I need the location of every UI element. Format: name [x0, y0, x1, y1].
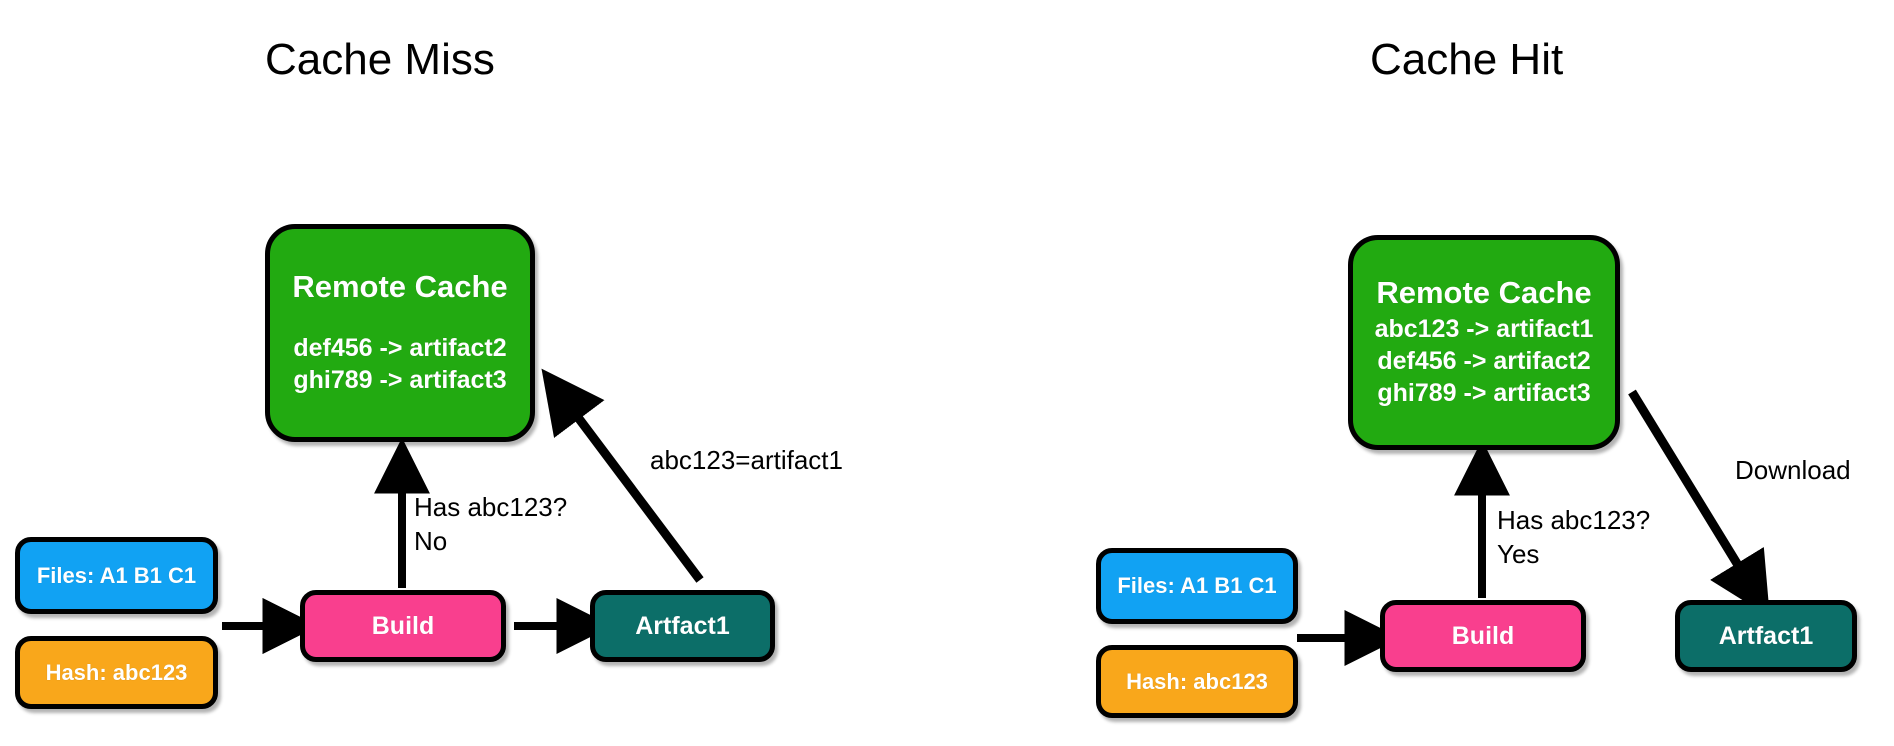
- right-files-node-label: Files: A1 B1 C1: [1117, 573, 1276, 599]
- left-remote-cache-entry-1: ghi789 -> artifact3: [293, 364, 506, 396]
- left-artifact-node[interactable]: Artfact1: [590, 590, 775, 662]
- right-artifact-node-label: Artfact1: [1719, 622, 1813, 651]
- right-remote-cache-entry-2: ghi789 -> artifact3: [1377, 377, 1590, 409]
- right-remote-cache-entry-1: def456 -> artifact2: [1377, 345, 1590, 377]
- left-files-node[interactable]: Files: A1 B1 C1: [15, 537, 218, 614]
- left-remote-cache-heading: Remote Cache: [292, 270, 507, 304]
- diagram-canvas: Cache Miss Remote Cache def456 -> artifa…: [0, 0, 1894, 746]
- right-remote-cache-heading: Remote Cache: [1376, 276, 1591, 310]
- left-artifact-node-label: Artfact1: [635, 612, 729, 641]
- right-hash-node[interactable]: Hash: abc123: [1096, 645, 1298, 718]
- left-remote-cache-entry-0: def456 -> artifact2: [293, 332, 506, 364]
- right-query-edge-label: Has abc123? Yes: [1497, 503, 1650, 572]
- edge-artifact-to-cache-left: [562, 396, 700, 580]
- right-build-node-label: Build: [1452, 622, 1515, 651]
- left-build-node-label: Build: [372, 612, 435, 641]
- left-build-node[interactable]: Build: [300, 590, 506, 662]
- right-remote-cache-entry-0: abc123 -> artifact1: [1375, 313, 1594, 345]
- left-remote-cache-node[interactable]: Remote Cache def456 -> artifact2 ghi789 …: [265, 224, 535, 442]
- right-artifact-node[interactable]: Artfact1: [1675, 600, 1857, 672]
- right-remote-cache-node[interactable]: Remote Cache abc123 -> artifact1 def456 …: [1348, 235, 1620, 450]
- left-upload-edge-label: abc123=artifact1: [650, 443, 843, 477]
- left-diagram-title: Cache Miss: [265, 35, 495, 85]
- left-query-edge-label: Has abc123? No: [414, 490, 567, 559]
- right-download-edge-label: Download: [1735, 453, 1851, 487]
- right-files-node[interactable]: Files: A1 B1 C1: [1096, 548, 1298, 624]
- right-build-node[interactable]: Build: [1380, 600, 1586, 672]
- left-files-node-label: Files: A1 B1 C1: [37, 563, 196, 589]
- left-hash-node[interactable]: Hash: abc123: [15, 636, 218, 709]
- right-diagram-title: Cache Hit: [1370, 35, 1563, 85]
- left-hash-node-label: Hash: abc123: [46, 660, 188, 686]
- right-hash-node-label: Hash: abc123: [1126, 669, 1268, 695]
